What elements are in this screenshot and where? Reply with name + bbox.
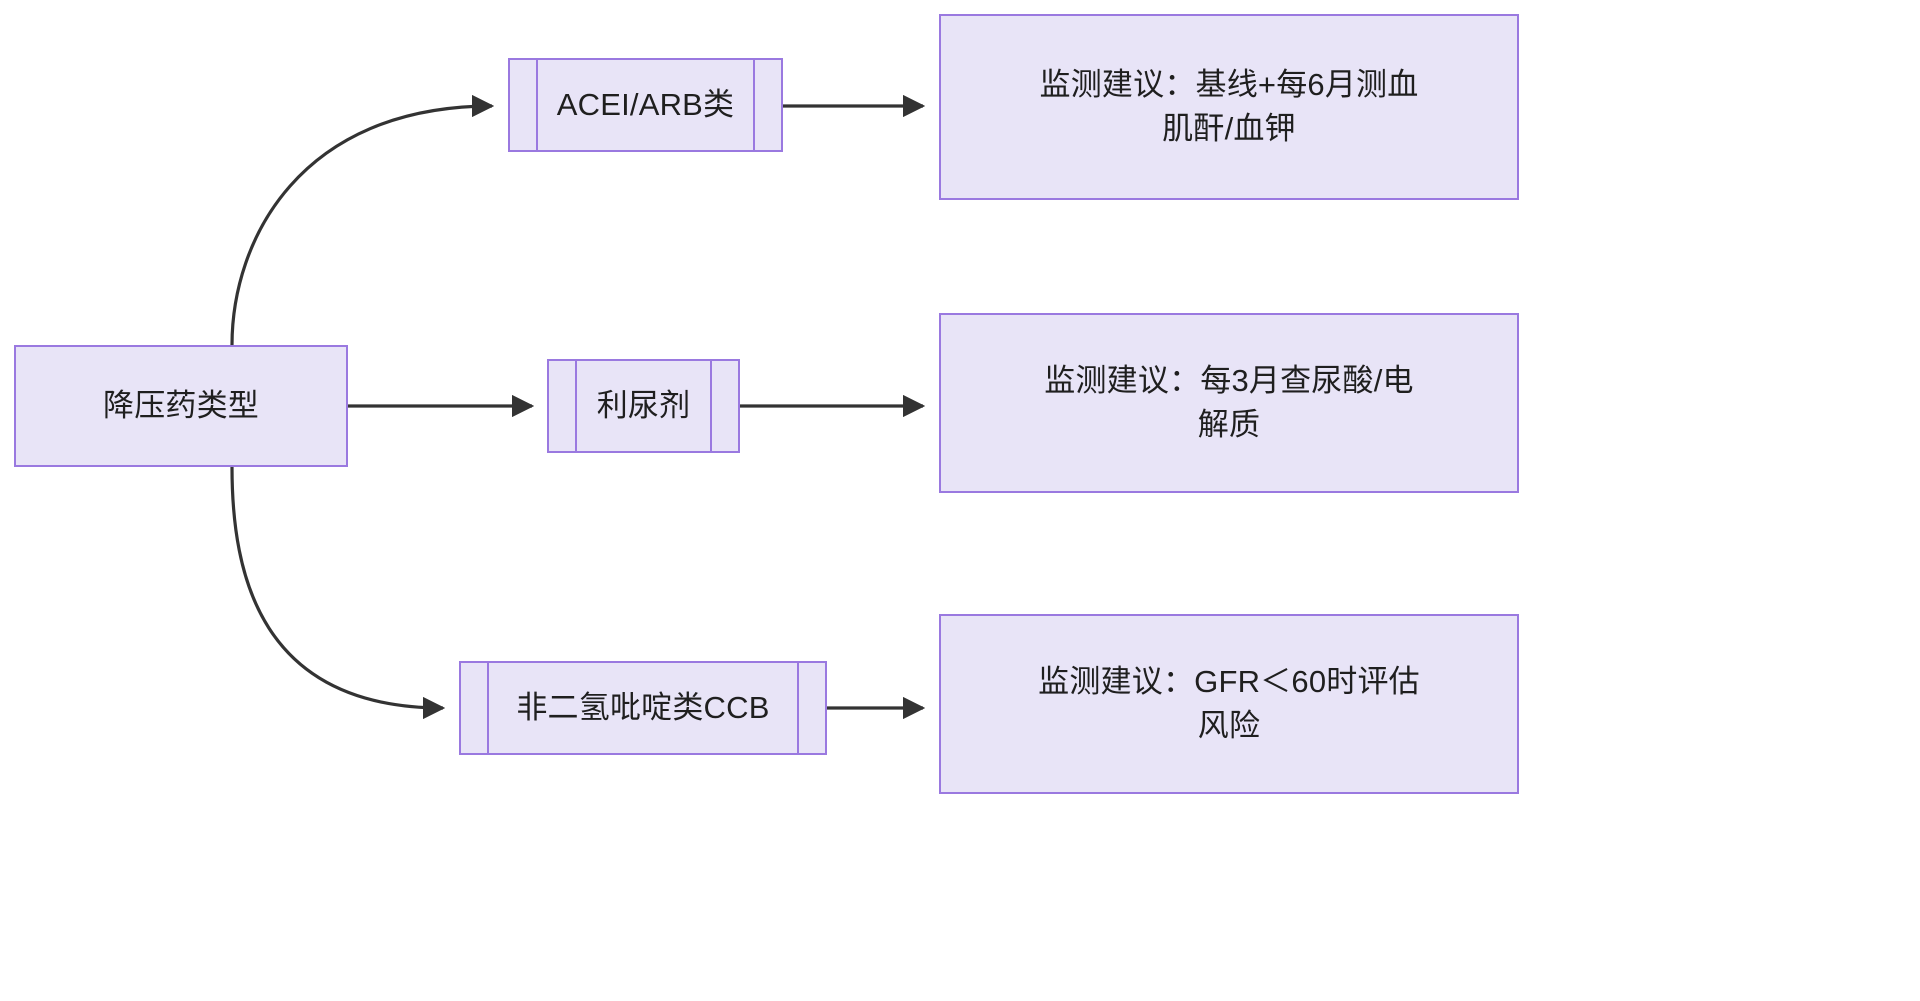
- node-label: 监测建议：每3月查尿酸/电 解质: [1022, 359, 1435, 447]
- node-label: 监测建议：基线+每6月测血 肌酐/血钾: [1018, 63, 1441, 151]
- edge-root-acei: [232, 106, 492, 345]
- node-label: 利尿剂: [583, 384, 705, 428]
- node-label: 非二氢吡啶类CCB: [502, 686, 783, 730]
- edge-root-ccb: [232, 467, 443, 708]
- flowchart-canvas: 降压药类型 ACEI/ARB类 利尿剂 非二氢吡啶类CCB 监测建议：基线+每6…: [0, 0, 1920, 1001]
- node-label: 降压药类型: [81, 384, 281, 428]
- node-diuretic[interactable]: 利尿剂: [547, 359, 740, 453]
- node-label: ACEI/ARB类: [543, 83, 749, 127]
- node-advice-diuretic[interactable]: 监测建议：每3月查尿酸/电 解质: [939, 313, 1519, 493]
- node-drug-class-root[interactable]: 降压药类型: [14, 345, 348, 467]
- node-label: 监测建议：GFR＜60时评估 风险: [1016, 660, 1442, 748]
- node-acei-arb[interactable]: ACEI/ARB类: [508, 58, 783, 152]
- node-advice-ccb[interactable]: 监测建议：GFR＜60时评估 风险: [939, 614, 1519, 794]
- node-advice-acei-arb[interactable]: 监测建议：基线+每6月测血 肌酐/血钾: [939, 14, 1519, 200]
- node-non-dhp-ccb[interactable]: 非二氢吡啶类CCB: [459, 661, 827, 755]
